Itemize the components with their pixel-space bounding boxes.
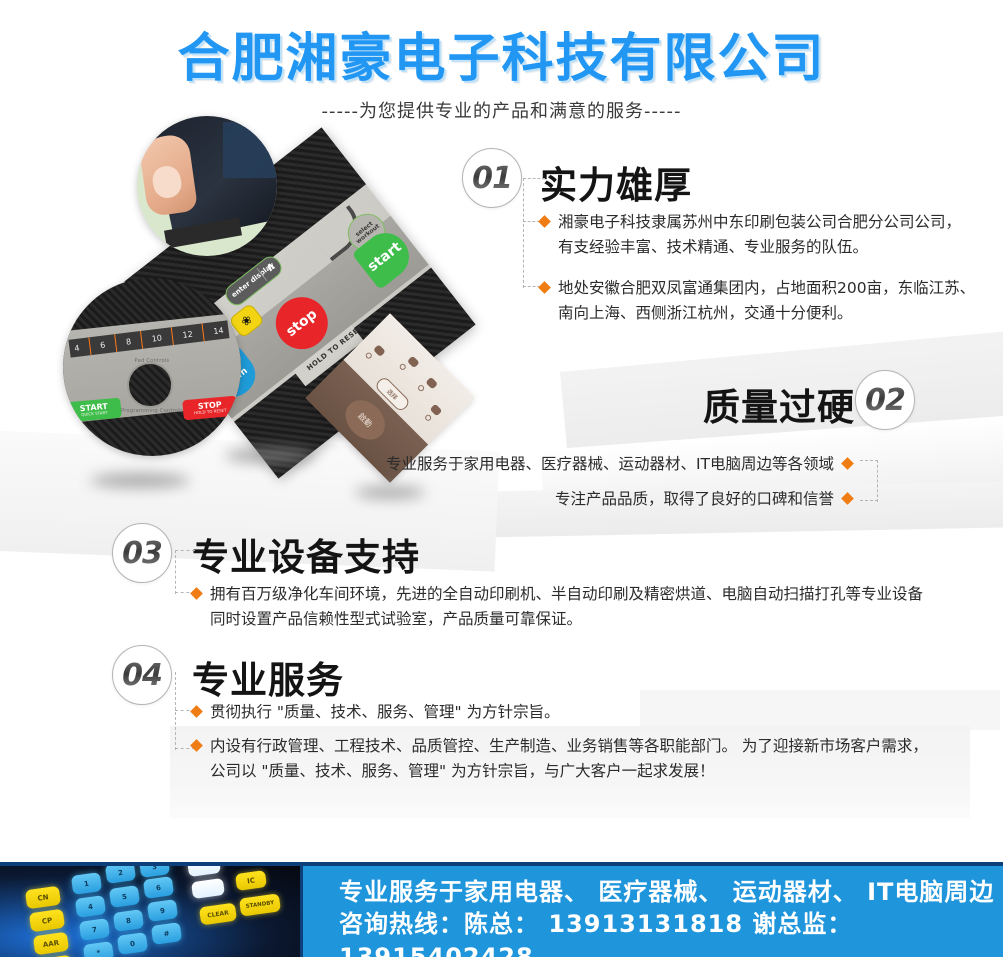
speed-scale-inset-image: 4 6 8 10 12 14 Pad Controls Programming … [63, 278, 241, 456]
tick-label: 8 [125, 337, 131, 347]
keypad-key-cp[interactable]: CP [29, 909, 65, 933]
redacted-caption-1 [90, 473, 190, 488]
footer-service-line: 专业服务于家用电器、 医疗器械、 运动器材、 IT电脑周边 [339, 876, 1003, 908]
footer-banner: CN CP AAR DTMF 1 2 3 4 5 6 7 8 9 0 * # I… [0, 862, 1003, 957]
connector-line-04-vertical [175, 672, 176, 750]
keypad-key-aar[interactable]: AAR [33, 932, 69, 956]
section-badge-03: 03 [112, 523, 172, 583]
tick-label: 10 [151, 333, 162, 343]
section-number-03: 03 [122, 536, 162, 571]
company-title: 合肥湘豪电子科技有限公司 [0, 0, 1003, 91]
section-title-01: 实力雄厚 [540, 155, 692, 209]
keypad-key-7[interactable]: 7 [79, 918, 110, 941]
diamond-bullet-icon [190, 739, 203, 752]
diamond-bullet-icon [841, 457, 854, 470]
keypad-key-5[interactable]: 5 [109, 885, 140, 908]
bullet-item: 专业服务于家用电器、医疗器械、运动器材、IT电脑周边等各领域 [340, 452, 852, 477]
connector-line-02-top [860, 460, 878, 461]
diamond-bullet-icon [538, 215, 551, 228]
bullet-item: 内设有行政管理、工程技术、品质管控、生产制造、业务销售等各职能部门。 为了迎接新… [192, 734, 982, 784]
fan-icon: ❀ [239, 313, 255, 329]
stop-label: stop [284, 307, 320, 340]
promo-page: 合肥湘豪电子科技有限公司 -----为您提供专业的产品和满意的服务----- e… [0, 0, 1003, 957]
start-label: start [365, 240, 404, 275]
diamond-bullet-icon [190, 705, 203, 718]
connector-line-02-vertical [877, 460, 878, 502]
bullet-text: 拥有百万级净化车间环境，先进的全自动印刷机、半自动印刷及精密烘道、电脑自动扫描打… [210, 582, 923, 632]
backlit-keypad-photo: CN CP AAR DTMF 1 2 3 4 5 6 7 8 9 0 * # I… [0, 866, 303, 957]
section-number-04: 04 [122, 658, 162, 693]
keypad-key-4[interactable]: 4 [75, 895, 106, 918]
footer-hotline-line: 咨询热线：陈总： 13913131818 谢总监： 13915402428 [339, 908, 1003, 957]
tick-label: 6 [100, 340, 106, 350]
keypad-key-cn[interactable]: CN [25, 886, 61, 910]
keypad-key-1[interactable]: 1 [71, 872, 102, 895]
keypad-key-clear[interactable]: CLEAR [199, 903, 237, 926]
tick-mark [88, 337, 92, 355]
diamond-bullet-icon [190, 587, 203, 600]
bullet-item: 湘豪电子科技隶属苏州中东印刷包装公司合肥分公司公司， 有支经验丰富、技术精通、专… [540, 210, 1000, 260]
bullet-text: 地处安徽合肥双凤富通集团内，占地面积200亩，东临江苏、 南向上海、西侧浙江杭州… [558, 276, 975, 326]
bullet-item: 地处安徽合肥双凤富通集团内，占地面积200亩，东临江苏、 南向上海、西侧浙江杭州… [540, 276, 1000, 326]
membrane-film-overlay [223, 122, 277, 178]
redacted-caption-2 [225, 448, 315, 463]
quick-start-sublabel: QUICK START [81, 411, 108, 417]
section-title-03: 专业设备支持 [192, 527, 420, 581]
section-number-01: 01 [472, 161, 512, 196]
panel-stop-sublabel: HOLD TO RESET [194, 409, 227, 416]
section-badge-01: 01 [462, 148, 522, 208]
keypad-key-star[interactable]: * [83, 941, 114, 957]
keypad-key-6[interactable]: 6 [143, 876, 174, 899]
connector-line-01-vertical [523, 178, 524, 288]
section-title-02: 质量过硬 [703, 377, 855, 431]
connector-line-03-top [175, 550, 195, 551]
section-body-04: 贯彻执行 "质量、技术、服务、管理" 为方针宗旨。 内设有行政管理、工程技术、品… [192, 700, 982, 793]
tick-mark [201, 323, 205, 341]
keypad-key-0[interactable]: 0 [117, 932, 148, 955]
bullet-item: 专注产品品质，取得了良好的口碑和信誉 [340, 487, 852, 512]
cooker-start-label: 啟動 [356, 410, 375, 429]
section-title-04: 专业服务 [192, 650, 344, 704]
bullet-text: 专业服务于家用电器、医疗器械、运动器材、IT电脑周边等各领域 [386, 452, 834, 477]
keypad-key-white-2[interactable] [191, 878, 225, 899]
section-number-02: 02 [865, 383, 905, 418]
diamond-bullet-icon [538, 281, 551, 294]
section-badge-04: 04 [112, 645, 172, 705]
bullet-item: 贯彻执行 "质量、技术、服务、管理" 为方针宗旨。 [192, 700, 982, 725]
tick-label: 12 [182, 329, 193, 339]
keypad-key-hash[interactable]: # [151, 922, 182, 945]
keypad-key-ic[interactable]: IC [235, 870, 267, 891]
bullet-text: 内设有行政管理、工程技术、品质管控、生产制造、业务销售等各职能部门。 为了迎接新… [210, 734, 928, 784]
connector-line-03-vertical [175, 550, 176, 594]
section-body-02: 专业服务于家用电器、医疗器械、运动器材、IT电脑周边等各领域 专注产品品质，取得… [340, 452, 852, 521]
cooker-select-label: 选择 [385, 387, 400, 402]
bullet-item: 拥有百万级净化车间环境，先进的全自动印刷机、半自动印刷及精密烘道、电脑自动扫描打… [192, 582, 982, 632]
keypad-key-standby[interactable]: STANDBY [239, 893, 281, 916]
page-header: 合肥湘豪电子科技有限公司 -----为您提供专业的产品和满意的服务----- [0, 0, 1003, 120]
section-badge-02: 02 [855, 370, 915, 430]
keypad-key-white-1[interactable] [187, 866, 221, 877]
keypad-key-8[interactable]: 8 [113, 909, 144, 932]
tick-mark [140, 331, 144, 349]
hand-peeling-membrane-inset-image [137, 116, 277, 256]
tick-label: 4 [74, 343, 80, 353]
section-body-03: 拥有百万级净化车间环境，先进的全自动印刷机、半自动印刷及精密烘道、电脑自动扫描打… [192, 582, 982, 641]
footer-text-block: 专业服务于家用电器、 医疗器械、 运动器材、 IT电脑周边 咨询热线：陈总： 1… [303, 866, 1003, 957]
tick-label: 14 [213, 325, 224, 335]
rotary-knob[interactable] [127, 362, 173, 408]
connector-line-01-top [523, 178, 545, 179]
bullet-text: 湘豪电子科技隶属苏州中东印刷包装公司合肥分公司公司， 有支经验丰富、技术精通、专… [558, 210, 961, 260]
quick-start-button[interactable]: START QUICK START [66, 398, 122, 423]
section-body-01: 湘豪电子科技隶属苏州中东印刷包装公司合肥分公司公司， 有支经验丰富、技术精通、专… [540, 210, 1000, 335]
keypad-key-2[interactable]: 2 [105, 866, 136, 884]
diamond-bullet-icon [841, 492, 854, 505]
bullet-text: 专注产品品质，取得了良好的口碑和信誉 [555, 487, 834, 512]
tick-mark [114, 334, 118, 352]
bullet-text: 贯彻执行 "质量、技术、服务、管理" 为方针宗旨。 [210, 700, 560, 725]
tick-mark [170, 327, 174, 345]
connector-line-02-bottom [860, 500, 878, 501]
keypad-key-9[interactable]: 9 [147, 899, 178, 922]
